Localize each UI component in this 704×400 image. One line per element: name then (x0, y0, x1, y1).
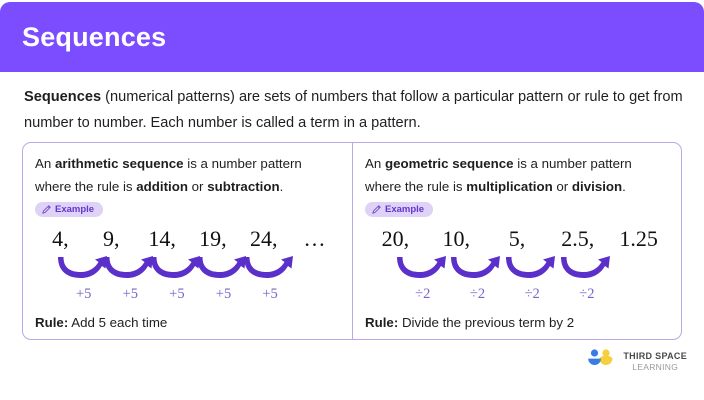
sequence-arrow (107, 254, 154, 284)
panel-geometric-description: An geometric sequence is a number patter… (365, 152, 669, 198)
sequence-arrow (247, 254, 294, 284)
sequence-term: … (289, 226, 340, 252)
sequence-term: 20, (365, 226, 426, 252)
rule-text: Add 5 each time (68, 315, 167, 330)
sequence-term: 24, (238, 226, 289, 252)
sequence-term: 9, (86, 226, 137, 252)
rule-geometric: Rule: Divide the previous term by 2 (353, 315, 681, 339)
comparison-panels: An arithmetic sequence is a number patte… (22, 142, 682, 340)
sequence-operation-label: +5 (107, 286, 154, 303)
sequence-terms-geometric: 20,10,5,2.5,1.25 (365, 224, 669, 254)
sequence-operations-geometric: ÷2÷2÷2÷2 (365, 286, 669, 303)
term-division: division (572, 179, 622, 194)
example-badge-geometric: Example (365, 202, 433, 217)
sequence-operation-label: ÷2 (560, 286, 615, 303)
example-badge-label: Example (55, 204, 94, 215)
sequence-arrow (60, 254, 107, 284)
text-fragment: . (622, 179, 626, 194)
rule-label: Rule: (365, 315, 398, 330)
sequence-operation-label: +5 (154, 286, 201, 303)
example-badge-arithmetic: Example (35, 202, 103, 217)
sequence-arrow (450, 254, 505, 284)
sequence-arrow (200, 254, 247, 284)
infographic-card: Sequences Sequences (numerical patterns)… (0, 0, 704, 400)
intro-rest: (numerical patterns) are sets of numbers… (24, 89, 683, 131)
text-fragment: An (365, 156, 385, 171)
sequence-term: 10, (426, 226, 487, 252)
text-fragment: An (35, 156, 55, 171)
sequence-arrow (560, 254, 615, 284)
sequence-operation-label: ÷2 (395, 286, 450, 303)
sequence-arrow (505, 254, 560, 284)
rule-text: Divide the previous term by 2 (398, 315, 574, 330)
sequence-arrows-geometric (365, 254, 669, 284)
example-badge-label: Example (385, 204, 424, 215)
sequence-term: 4, (35, 226, 86, 252)
sequence-term: 14, (137, 226, 188, 252)
rule-arithmetic: Rule: Add 5 each time (23, 315, 352, 339)
sequence-terms-arithmetic: 4,9,14,19,24,… (35, 224, 340, 254)
term-arithmetic-sequence: arithmetic sequence (55, 156, 184, 171)
sequence-term: 5, (487, 226, 548, 252)
sequence-operation-label: +5 (247, 286, 294, 303)
logo-line-1: THIRD SPACE (623, 351, 687, 362)
panel-arithmetic-description: An arithmetic sequence is a number patte… (35, 152, 340, 198)
sequence-operation-label: ÷2 (505, 286, 560, 303)
term-subtraction: subtraction (207, 179, 279, 194)
logo-wordmark: THIRD SPACE LEARNING (623, 351, 687, 373)
sequence-term: 19, (187, 226, 238, 252)
header-banner: Sequences (0, 2, 704, 72)
brand-logo: THIRD SPACE LEARNING (586, 349, 687, 375)
page-title: Sequences (22, 22, 166, 53)
sequence-operation-label: +5 (60, 286, 107, 303)
sequence-arrow (395, 254, 450, 284)
pencil-icon (372, 205, 381, 214)
sequence-operation-label: +5 (200, 286, 247, 303)
sequence-diagram-arithmetic: 4,9,14,19,24,… +5+5+5+5+5 (35, 224, 340, 312)
sequence-arrows-arithmetic (35, 254, 340, 284)
sequence-operations-arithmetic: +5+5+5+5+5 (35, 286, 340, 303)
intro-bold-lead: Sequences (24, 89, 101, 105)
term-addition: addition (136, 179, 188, 194)
term-multiplication: multiplication (466, 179, 552, 194)
sequence-operation-label: ÷2 (450, 286, 505, 303)
sequence-term: 2.5, (547, 226, 608, 252)
text-fragment: . (280, 179, 284, 194)
logo-line-2: LEARNING (623, 362, 687, 373)
panel-arithmetic: An arithmetic sequence is a number patte… (23, 143, 352, 339)
sequence-arrow (154, 254, 201, 284)
sequence-diagram-geometric: 20,10,5,2.5,1.25 ÷2÷2÷2÷2 (365, 224, 669, 312)
sequence-term: 1.25 (608, 226, 669, 252)
pencil-icon (42, 205, 51, 214)
panel-geometric: An geometric sequence is a number patter… (352, 143, 681, 339)
term-geometric-sequence: geometric sequence (385, 156, 514, 171)
intro-paragraph: Sequences (numerical patterns) are sets … (24, 84, 684, 136)
rule-label: Rule: (35, 315, 68, 330)
third-space-learning-mark-icon (586, 349, 616, 375)
text-fragment: or (188, 179, 207, 194)
text-fragment: or (553, 179, 572, 194)
